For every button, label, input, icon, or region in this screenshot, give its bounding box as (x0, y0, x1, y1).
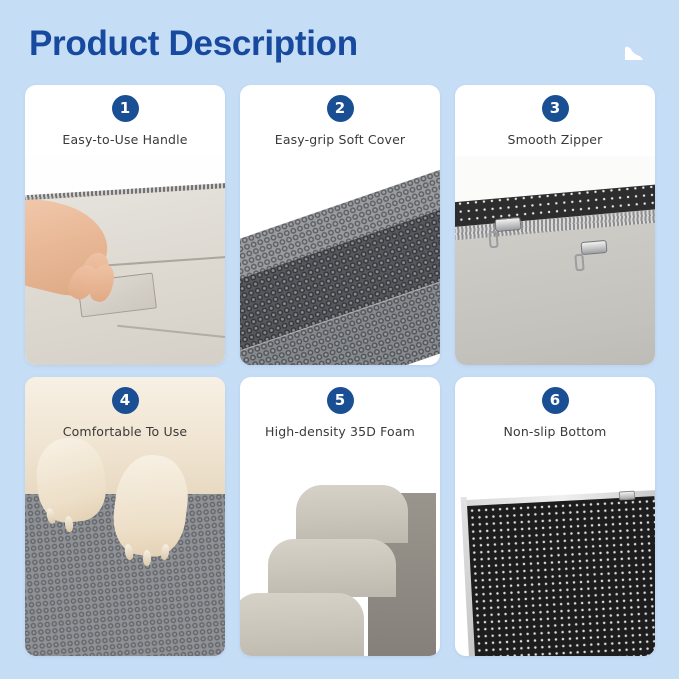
badge-number-6: 6 (542, 387, 569, 414)
feature-card-4[interactable]: 4 Comfortable To Use (25, 377, 225, 657)
dual-zipper-pulls-photo (455, 156, 655, 365)
feature-card-2[interactable]: 2 Easy-grip Soft Cover (240, 85, 440, 365)
hand-pulling-fabric-handle-photo (25, 156, 225, 365)
feature-card-1[interactable]: 1 Easy-to-Use Handle (25, 85, 225, 365)
card-5-header: 5 High-density 35D Foam (240, 377, 440, 451)
feature-card-grid: 1 Easy-to-Use Handle 2 Easy-grip Soft Co… (25, 85, 655, 656)
card-2-label: Easy-grip Soft Cover (275, 132, 405, 147)
feature-card-6[interactable]: 6 Non-slip Bottom (455, 377, 655, 657)
badge-number-4: 4 (112, 387, 139, 414)
badge-number-5: 5 (327, 387, 354, 414)
corner-triangle-mark-icon (623, 42, 645, 62)
feature-card-5[interactable]: 5 High-density 35D Foam (240, 377, 440, 657)
card-4-label: Comfortable To Use (63, 424, 188, 439)
page-header: Product Description (0, 0, 679, 84)
badge-number-2: 2 (327, 95, 354, 122)
black-dotted-non-slip-base-photo (455, 447, 655, 656)
card-2-header: 2 Easy-grip Soft Cover (240, 85, 440, 159)
card-1-header: 1 Easy-to-Use Handle (25, 85, 225, 159)
card-4-header: 4 Comfortable To Use (25, 377, 225, 451)
card-6-label: Non-slip Bottom (504, 424, 607, 439)
badge-number-3: 3 (542, 95, 569, 122)
card-5-label: High-density 35D Foam (265, 424, 415, 439)
card-1-label: Easy-to-Use Handle (62, 132, 187, 147)
three-tier-foam-pet-stairs-photo (240, 447, 440, 656)
card-3-header: 3 Smooth Zipper (455, 85, 655, 159)
card-6-header: 6 Non-slip Bottom (455, 377, 655, 451)
card-3-label: Smooth Zipper (508, 132, 603, 147)
feature-card-3[interactable]: 3 Smooth Zipper (455, 85, 655, 365)
gray-chenille-bubble-fabric-photo (240, 156, 440, 365)
badge-number-1: 1 (112, 95, 139, 122)
page-title: Product Description (29, 24, 358, 64)
